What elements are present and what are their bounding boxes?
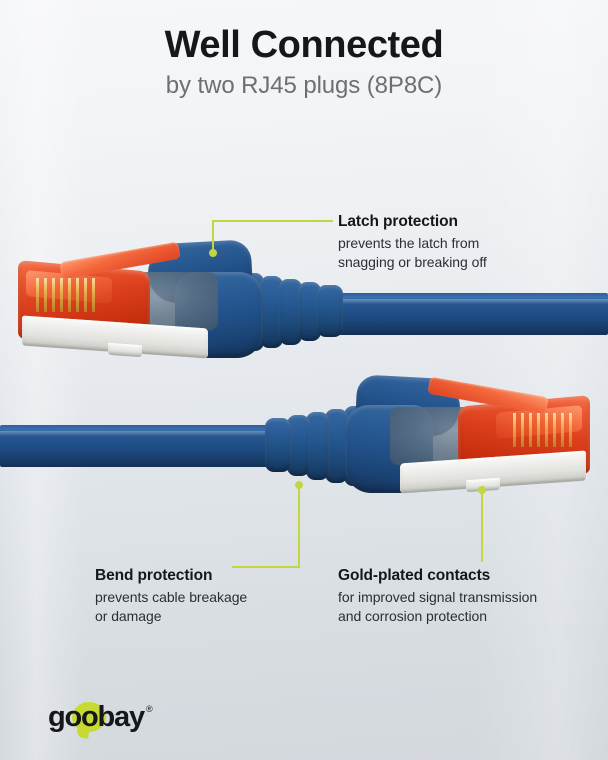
callout-gold-title: Gold-plated contacts bbox=[338, 565, 537, 586]
registered-trademark-icon: ® bbox=[146, 704, 153, 714]
goobay-wordmark: goobay bbox=[48, 702, 144, 733]
callout-latch-protection: Latch protection prevents the latch from… bbox=[338, 211, 487, 272]
leader-line-gold bbox=[0, 0, 608, 760]
callout-bend-line-1: prevents cable breakage bbox=[95, 588, 247, 607]
callout-latch-title: Latch protection bbox=[338, 211, 487, 232]
callout-bend-body: prevents cable breakage or damage bbox=[95, 588, 247, 626]
callout-gold-line-1: for improved signal transmission bbox=[338, 588, 537, 607]
callout-latch-line-2: snagging or breaking off bbox=[338, 253, 487, 272]
product-infographic: Well Connected by two RJ45 plugs (8P8C) bbox=[0, 0, 608, 760]
callout-bend-line-2: or damage bbox=[95, 607, 247, 626]
callout-gold-plated-contacts: Gold-plated contacts for improved signal… bbox=[338, 565, 537, 626]
callout-gold-line-2: and corrosion protection bbox=[338, 607, 537, 626]
callout-bend-title: Bend protection bbox=[95, 565, 247, 586]
callout-latch-body: prevents the latch from snagging or brea… bbox=[338, 234, 487, 272]
callout-bend-protection: Bend protection prevents cable breakage … bbox=[95, 565, 247, 626]
callout-gold-body: for improved signal transmission and cor… bbox=[338, 588, 537, 626]
callout-latch-line-1: prevents the latch from bbox=[338, 234, 487, 253]
